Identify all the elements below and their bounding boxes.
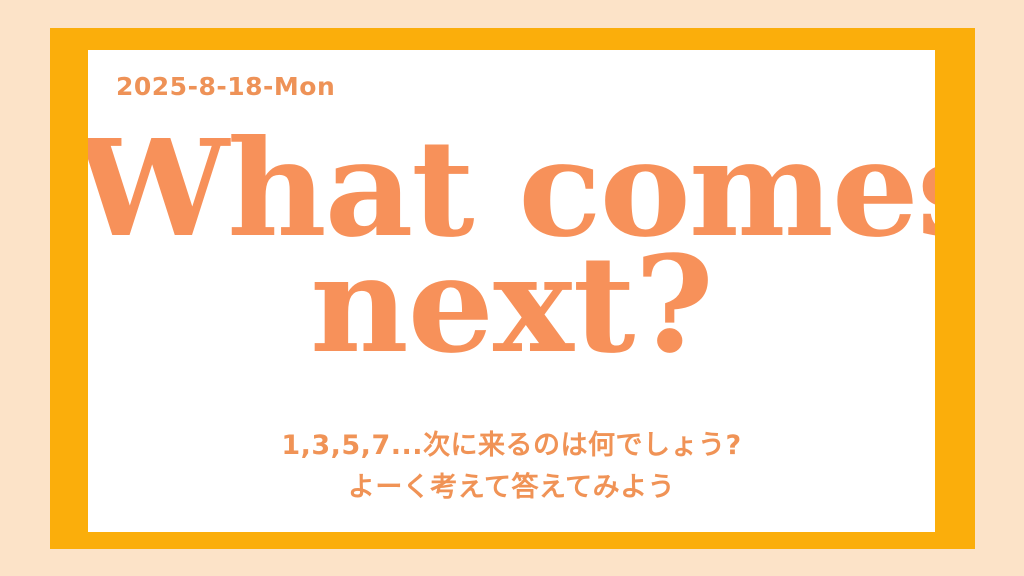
date-label: 2025-8-18-Mon — [116, 72, 335, 101]
headline-line-2: next? — [88, 244, 935, 366]
subtitle-block: 1,3,5,7...次に来るのは何でしょう? よーく考えて答えてみよう — [88, 425, 935, 509]
slide-canvas: 2025-8-18-Mon What comes next? 1,3,5,7..… — [0, 0, 1024, 576]
page-title: What comes next? — [88, 128, 935, 367]
white-content-card: 2025-8-18-Mon What comes next? 1,3,5,7..… — [88, 50, 935, 532]
amber-border-frame: 2025-8-18-Mon What comes next? 1,3,5,7..… — [50, 28, 975, 549]
subtitle-line-2: よーく考えて答えてみよう — [88, 467, 935, 509]
subtitle-line-1: 1,3,5,7...次に来るのは何でしょう? — [88, 425, 935, 467]
